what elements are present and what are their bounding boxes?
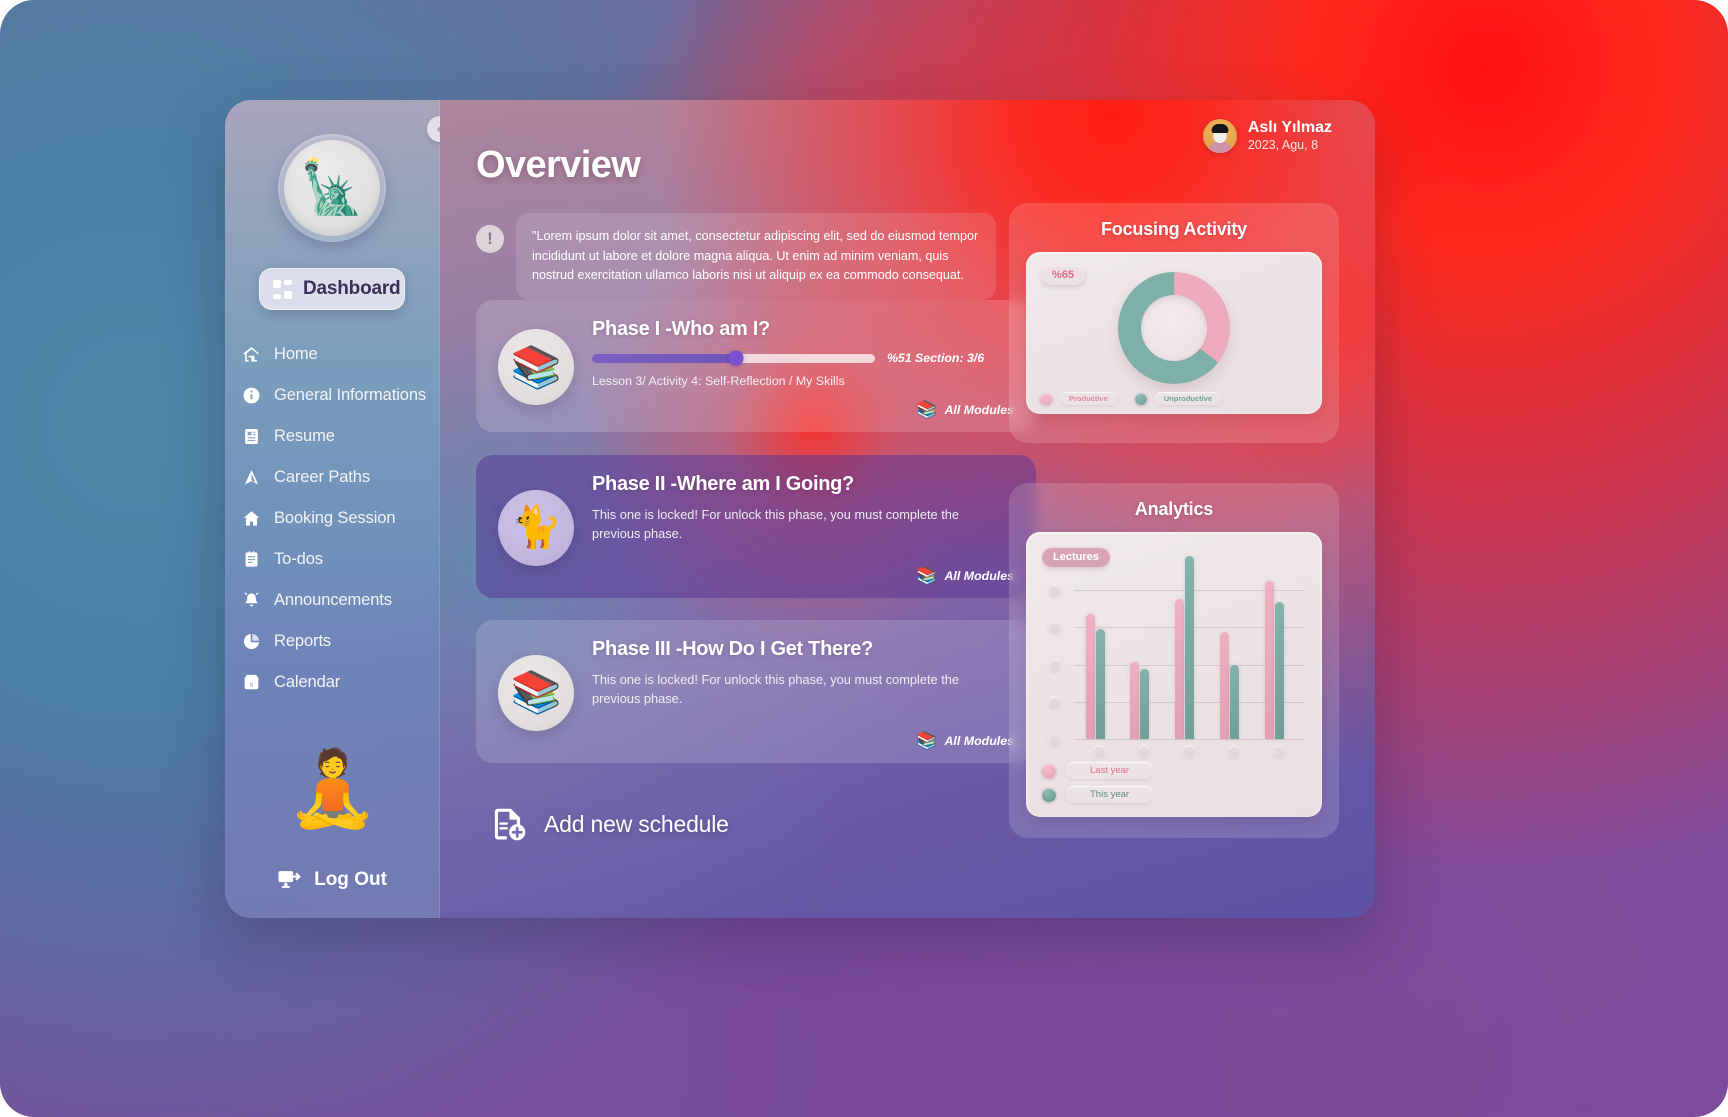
phase-title: Phase II -Where am I Going? xyxy=(592,473,1014,496)
lectures-badge: Lectures xyxy=(1042,547,1110,567)
page-title: Overview xyxy=(476,144,640,187)
logout-icon xyxy=(277,867,302,892)
info-icon xyxy=(242,386,261,405)
alert-text: "Lorem ipsum dolor sit amet, consectetur… xyxy=(516,213,996,300)
add-new-schedule-button[interactable]: Add new schedule xyxy=(490,805,729,843)
phase-description: This one is locked! For unlock this phas… xyxy=(592,671,992,709)
books-icon: 📚 xyxy=(916,732,937,749)
phase-description: This one is locked! For unlock this phas… xyxy=(592,506,992,544)
sidebar-item-resume[interactable]: Resume xyxy=(242,416,439,457)
navigation-icon xyxy=(242,468,261,487)
legend-label-unproductive: Unproductive xyxy=(1155,392,1221,405)
sidebar-item-dashboard[interactable]: Dashboard xyxy=(259,268,405,310)
all-modules-label: All Modules xyxy=(944,403,1014,417)
bar-this-year xyxy=(1230,665,1239,739)
bar-this-year xyxy=(1185,556,1194,739)
file-plus-icon xyxy=(490,805,528,843)
books-icon: 📚 xyxy=(916,567,937,584)
legend-dot-productive xyxy=(1040,393,1052,405)
chart-plot-area xyxy=(1074,590,1304,739)
bar-group xyxy=(1086,614,1105,739)
sidebar-item-to-dos[interactable]: To-dos xyxy=(242,539,439,580)
bar-group xyxy=(1175,556,1194,739)
bar-chart: Lectures xyxy=(1026,532,1322,817)
sidebar-item-label: Home xyxy=(274,345,318,364)
exclamation-icon: ! xyxy=(476,225,504,253)
student-illustration: 🧘 xyxy=(243,708,423,826)
bar-this-year xyxy=(1275,602,1284,739)
checklist-icon xyxy=(242,550,261,569)
legend-label-last-year: Last year xyxy=(1066,762,1153,779)
sidebar: 🗽 Dashboard Home General Informat xyxy=(225,100,440,918)
sidebar-item-reports[interactable]: Reports xyxy=(242,621,439,662)
analytics-legend: Last year This year xyxy=(1042,755,1153,803)
progress-meta: %51 Section: 3/6 xyxy=(887,351,984,365)
sidebar-item-label: Career Paths xyxy=(274,468,370,487)
phase-title: Phase I -Who am I? xyxy=(592,318,1014,341)
sidebar-item-announcements[interactable]: Announcements xyxy=(242,580,439,621)
focusing-activity-panel: Focusing Activity %65 Productive Unprodu… xyxy=(1009,203,1339,443)
bar-last-year xyxy=(1130,662,1139,739)
phase-thumbnail: 📚 xyxy=(498,329,574,405)
logout-label: Log Out xyxy=(314,869,387,891)
all-modules-button[interactable]: 📚 All Modules xyxy=(916,401,1014,418)
sidebar-item-label: Calendar xyxy=(274,673,340,692)
all-modules-button[interactable]: 📚 All Modules xyxy=(916,732,1014,749)
progress-row: %51 Section: 3/6 xyxy=(592,351,1014,365)
add-new-schedule-label: Add new schedule xyxy=(544,811,729,838)
phase-body: Phase III -How Do I Get There? This one … xyxy=(592,638,1014,747)
bar-last-year xyxy=(1175,599,1184,739)
sidebar-item-general-informations[interactable]: General Informations xyxy=(242,375,439,416)
sidebar-nav: Home General Informations Resume xyxy=(225,334,439,703)
progress-knob[interactable] xyxy=(729,351,744,366)
donut-chart: %65 Productive Unproductive xyxy=(1026,252,1322,414)
sidebar-item-calendar[interactable]: 8 Calendar xyxy=(242,662,439,703)
donut-ring xyxy=(1118,272,1230,384)
progress-slider[interactable] xyxy=(592,354,875,363)
user-name: Aslı Yılmaz xyxy=(1248,119,1332,137)
home-icon xyxy=(242,345,261,364)
grid-icon xyxy=(273,280,292,299)
donut-legend: Productive Unproductive xyxy=(1040,392,1308,405)
logout-button[interactable]: Log Out xyxy=(225,867,439,892)
dashboard-label: Dashboard xyxy=(303,278,400,300)
profile-avatar[interactable]: 🗽 xyxy=(278,134,386,242)
document-icon xyxy=(242,427,261,446)
phase-body: Phase II -Where am I Going? This one is … xyxy=(592,473,1014,582)
sidebar-item-booking-session[interactable]: Booking Session xyxy=(242,498,439,539)
bar-group xyxy=(1220,632,1239,739)
phase-title: Phase III -How Do I Get There? xyxy=(592,638,1014,661)
main-content: Overview Aslı Yılmaz 2023, Agu, 8 ! "Lor… xyxy=(440,100,1375,918)
sidebar-item-label: Booking Session xyxy=(274,509,395,528)
house-icon xyxy=(242,509,261,528)
legend-dot-this-year xyxy=(1042,788,1056,802)
books-icon: 📚 xyxy=(916,401,937,418)
sidebar-item-career-paths[interactable]: Career Paths xyxy=(242,457,439,498)
legend-row-last-year: Last year xyxy=(1042,762,1153,779)
sidebar-item-label: Reports xyxy=(274,632,331,651)
sidebar-item-label: General Informations xyxy=(274,386,426,405)
app-window: 🗽 Dashboard Home General Informat xyxy=(225,100,1375,918)
bar-last-year xyxy=(1220,632,1229,739)
phase-card-2[interactable]: 🐈 Phase II -Where am I Going? This one i… xyxy=(476,455,1036,598)
alert-banner: ! "Lorem ipsum dolor sit amet, consectet… xyxy=(476,213,996,300)
focus-percentage-badge: %65 xyxy=(1041,265,1085,285)
sidebar-item-label: Resume xyxy=(274,427,335,446)
phase-card-1[interactable]: 📚 Phase I -Who am I? %51 Section: 3/6 Le… xyxy=(476,300,1036,432)
current-date: 2023, Agu, 8 xyxy=(1248,137,1332,153)
legend-label-this-year: This year xyxy=(1066,786,1153,803)
user-profile-chip[interactable]: Aslı Yılmaz 2023, Agu, 8 xyxy=(1203,119,1332,154)
legend-dot-last-year xyxy=(1042,764,1056,778)
legend-row-this-year: This year xyxy=(1042,786,1153,803)
profile-avatar-image: 🗽 xyxy=(284,140,380,236)
phase-card-3[interactable]: 📚 Phase III -How Do I Get There? This on… xyxy=(476,620,1036,763)
bar-last-year xyxy=(1086,614,1095,739)
phase-thumbnail: 📚 xyxy=(498,655,574,731)
sidebar-item-label: Announcements xyxy=(274,591,392,610)
all-modules-label: All Modules xyxy=(944,569,1014,583)
legend-label-productive: Productive xyxy=(1060,392,1117,405)
phase-body: Phase I -Who am I? %51 Section: 3/6 Less… xyxy=(592,318,1014,416)
pie-chart-icon xyxy=(242,632,261,651)
phase-thumbnail: 🐈 xyxy=(498,490,574,566)
all-modules-label: All Modules xyxy=(944,734,1014,748)
phase-subtitle: Lesson 3/ Activity 4: Self-Reflection / … xyxy=(592,374,1014,388)
bar-group xyxy=(1265,581,1284,739)
bell-icon xyxy=(242,591,261,610)
bar-group xyxy=(1130,662,1149,739)
analytics-panel: Analytics Lectures xyxy=(1009,483,1339,838)
bar-this-year xyxy=(1140,669,1149,739)
all-modules-button[interactable]: 📚 All Modules xyxy=(916,567,1014,584)
analytics-title: Analytics xyxy=(1026,499,1322,520)
bar-last-year xyxy=(1265,581,1274,739)
desktop-background: 🗽 Dashboard Home General Informat xyxy=(0,0,1728,1117)
calendar-icon: 8 xyxy=(242,673,261,692)
focusing-activity-title: Focusing Activity xyxy=(1026,219,1322,240)
avatar xyxy=(1203,119,1237,153)
bar-this-year xyxy=(1096,629,1105,739)
user-meta: Aslı Yılmaz 2023, Agu, 8 xyxy=(1248,119,1332,154)
legend-dot-unproductive xyxy=(1135,393,1147,405)
sidebar-item-label: To-dos xyxy=(274,550,323,569)
sidebar-item-home[interactable]: Home xyxy=(242,334,439,375)
